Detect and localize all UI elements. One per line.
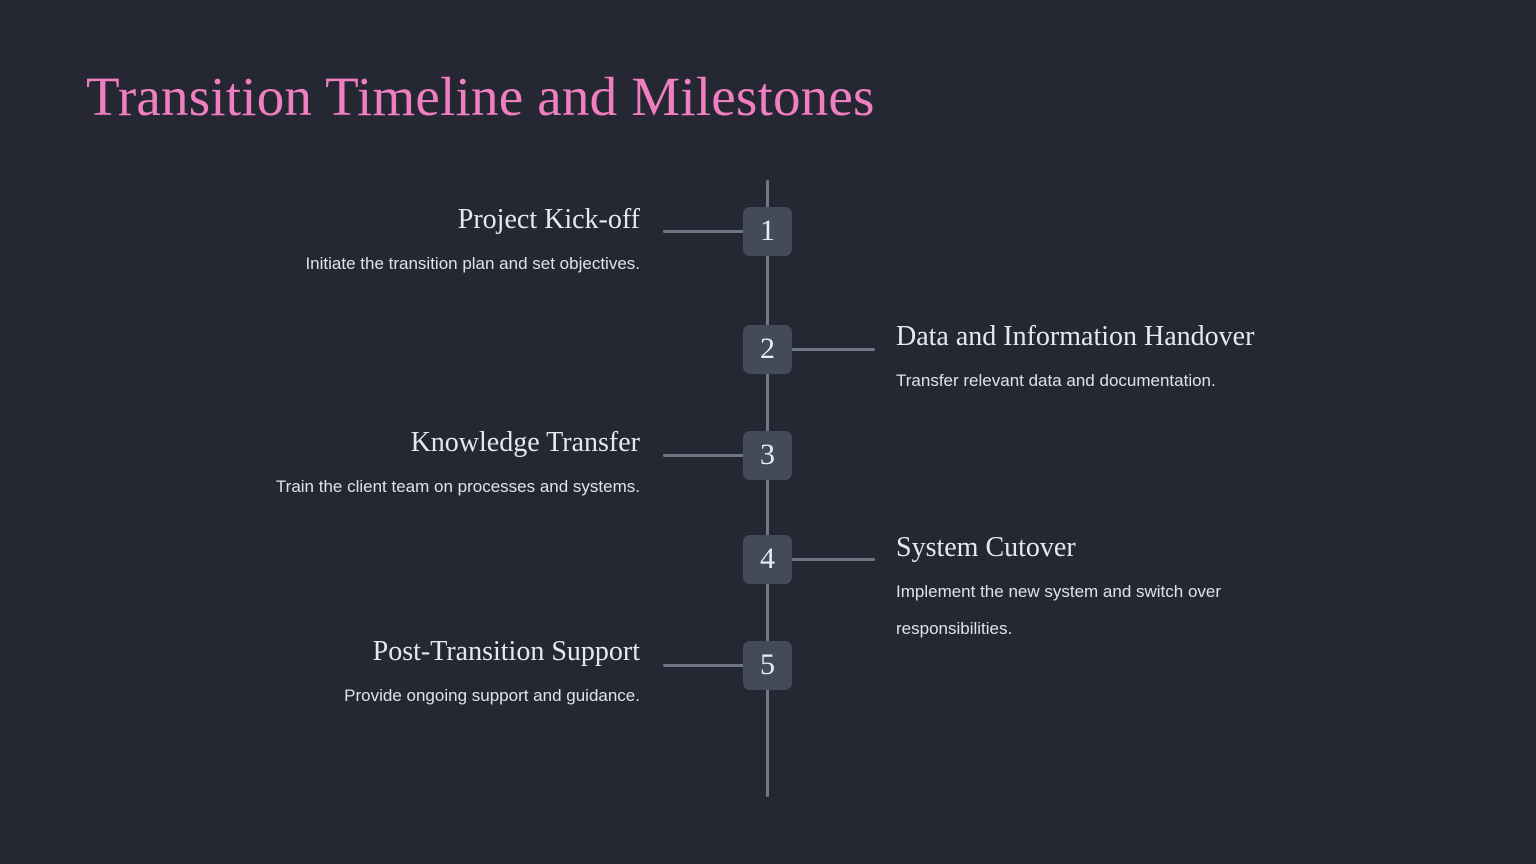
timeline-marker-number-5: 5 bbox=[760, 650, 775, 682]
timeline-entry-description-1: Initiate the transition plan and set obj… bbox=[305, 237, 640, 282]
timeline-entry-title-5: Post-Transition Support bbox=[344, 635, 640, 669]
timeline-marker-2[interactable]: 2 bbox=[743, 325, 792, 374]
timeline-marker-number-3: 3 bbox=[760, 440, 775, 472]
timeline-marker-3[interactable]: 3 bbox=[743, 431, 792, 480]
timeline-entry-description-4: Implement the new system and switch over… bbox=[896, 565, 1326, 647]
timeline-spine bbox=[766, 180, 769, 797]
timeline-entry-title-3: Knowledge Transfer bbox=[276, 426, 640, 460]
timeline-marker-5[interactable]: 5 bbox=[743, 641, 792, 690]
connector-line-3 bbox=[663, 454, 745, 457]
connector-line-5 bbox=[663, 664, 745, 667]
timeline-entry-title-2: Data and Information Handover bbox=[896, 320, 1254, 354]
timeline-entry-4: System Cutover Implement the new system … bbox=[896, 531, 1326, 647]
timeline-entry-5: Post-Transition Support Provide ongoing … bbox=[344, 635, 640, 714]
timeline-entry-3: Knowledge Transfer Train the client team… bbox=[276, 426, 640, 505]
timeline-entry-1: Project Kick-off Initiate the transition… bbox=[305, 203, 640, 282]
timeline-marker-number-2: 2 bbox=[760, 334, 775, 366]
connector-line-1 bbox=[663, 230, 745, 233]
slide-canvas: Transition Timeline and Milestones 1 Pro… bbox=[0, 0, 1536, 864]
timeline-entry-2: Data and Information Handover Transfer r… bbox=[896, 320, 1254, 399]
timeline-entry-title-1: Project Kick-off bbox=[305, 203, 640, 237]
timeline-entry-description-2: Transfer relevant data and documentation… bbox=[896, 354, 1254, 399]
timeline-marker-number-1: 1 bbox=[760, 216, 775, 248]
timeline-marker-4[interactable]: 4 bbox=[743, 535, 792, 584]
timeline-diagram: 1 Project Kick-off Initiate the transiti… bbox=[0, 0, 1536, 864]
timeline-entry-description-3: Train the client team on processes and s… bbox=[276, 460, 640, 505]
timeline-marker-number-4: 4 bbox=[760, 544, 775, 576]
timeline-entry-title-4: System Cutover bbox=[896, 531, 1326, 565]
connector-line-4 bbox=[791, 558, 875, 561]
timeline-marker-1[interactable]: 1 bbox=[743, 207, 792, 256]
timeline-entry-description-5: Provide ongoing support and guidance. bbox=[344, 669, 640, 714]
connector-line-2 bbox=[791, 348, 875, 351]
